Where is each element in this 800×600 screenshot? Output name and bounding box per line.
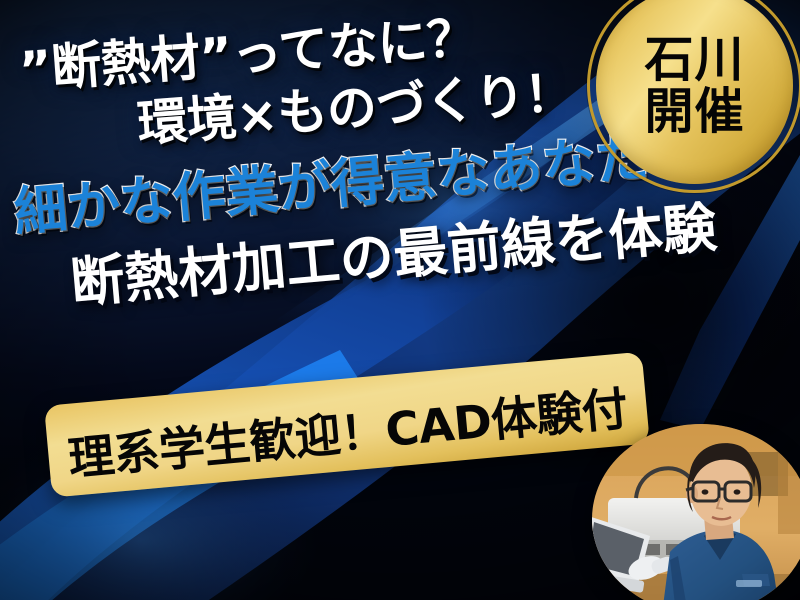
badge-line-2: 開催	[644, 87, 744, 137]
location-badge: 石川 開催	[587, 0, 800, 193]
poster-canvas: ”断熱材”ってなに？ 環境×ものづくり！ 細かな作業が得意なあなたへ 断熱材加工…	[0, 0, 800, 600]
badge-text-group: 石川 開催	[587, 0, 800, 193]
badge-line-1: 石川	[644, 35, 744, 85]
